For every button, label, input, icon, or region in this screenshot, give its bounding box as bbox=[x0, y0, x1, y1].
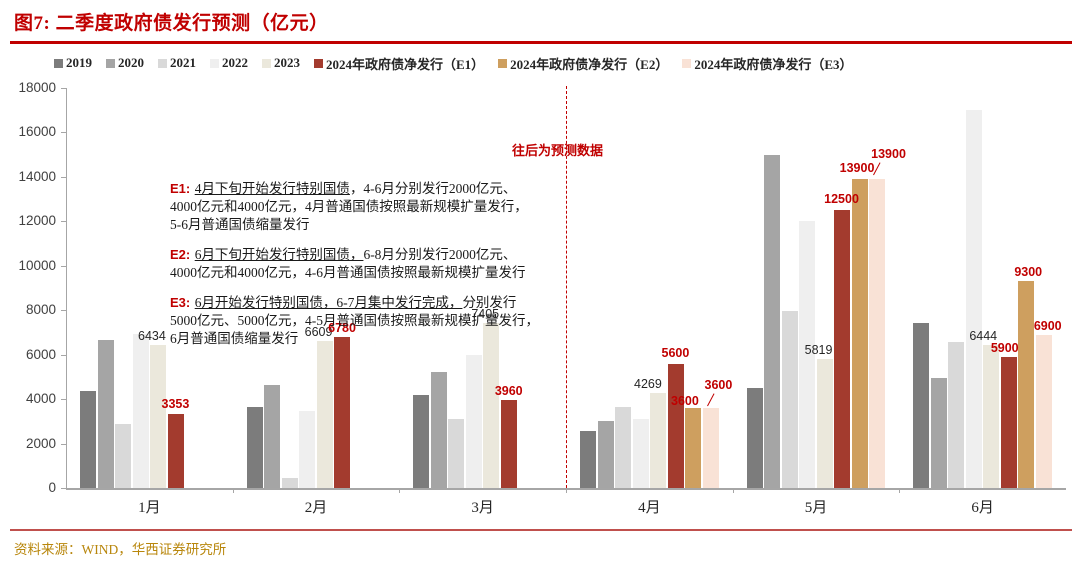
bar-6月-2021 bbox=[948, 342, 964, 488]
bar-value-label: 5600 bbox=[662, 346, 690, 360]
bar-4月-2024年政府债净发行（E2） bbox=[685, 408, 701, 488]
x-tick-label-3: 3月 bbox=[423, 496, 543, 517]
annotation-line1-rest: 6-8月分别发行2000亿元、 bbox=[363, 247, 516, 262]
bar-1月-2019 bbox=[80, 391, 96, 488]
annotation-line3: 5-6月普通国债缩量发行 bbox=[170, 216, 640, 234]
bar-5月-2024年政府债净发行（E2） bbox=[852, 179, 868, 488]
bar-3月-2020 bbox=[431, 372, 447, 488]
bar-value-label: 13900 bbox=[840, 161, 875, 175]
annotation-line2: 4000亿元和4000亿元，4月普通国债按照最新规模扩量发行， bbox=[170, 198, 640, 216]
bar-value-label: 13900 bbox=[871, 147, 906, 161]
y-tick-mark bbox=[61, 488, 66, 489]
bar-1月-2021 bbox=[115, 424, 131, 488]
annotation-underlined-text: 6月下旬开始发行特别国债， bbox=[195, 247, 364, 262]
y-tick-label: 18000 bbox=[0, 80, 56, 95]
x-tick-label-5: 5月 bbox=[756, 496, 876, 517]
legend-item-2: 2020 bbox=[106, 55, 144, 71]
y-tick-label: 6000 bbox=[0, 347, 56, 362]
bar-5月-2020 bbox=[764, 155, 780, 488]
bar-value-label: 4269 bbox=[634, 377, 662, 391]
x-tick-mark bbox=[899, 488, 900, 493]
legend-label: 2020 bbox=[118, 55, 144, 71]
bar-4月-2021 bbox=[615, 407, 631, 488]
legend-label: 2024年政府债净发行（E2） bbox=[510, 54, 668, 73]
bar-6月-2022 bbox=[966, 110, 982, 488]
bar-4月-2023 bbox=[650, 393, 666, 488]
bar-6月-2023 bbox=[983, 345, 999, 488]
annotation-line2: 5000亿元、5000亿元，4-5月普通国债按照最新规模扩量发行， bbox=[170, 312, 640, 330]
legend-label: 2022 bbox=[222, 55, 248, 71]
label-leader-line bbox=[707, 393, 714, 406]
legend-item-6: 2024年政府债净发行（E1） bbox=[314, 54, 484, 73]
legend-swatch-icon bbox=[682, 59, 691, 68]
annotation-tag: E2: bbox=[170, 247, 190, 262]
bar-value-label: 5900 bbox=[991, 341, 1019, 355]
bar-5月-2019 bbox=[747, 388, 763, 488]
bar-value-label: 5819 bbox=[805, 343, 833, 357]
bar-4月-2024年政府债净发行（E3） bbox=[703, 408, 719, 488]
bar-6月-2024年政府债净发行（E3） bbox=[1036, 335, 1052, 488]
annotation-line3: 6月普通国债缩量发行 bbox=[170, 330, 640, 348]
y-tick-label: 0 bbox=[0, 480, 56, 495]
legend-label: 2024年政府债净发行（E3） bbox=[694, 54, 852, 73]
bar-value-label: 9300 bbox=[1014, 265, 1042, 279]
legend-swatch-icon bbox=[210, 59, 219, 68]
bar-6月-2024年政府债净发行（E2） bbox=[1018, 281, 1034, 488]
page-title: 图7: 二季度政府债发行预测（亿元） bbox=[14, 8, 329, 35]
x-tick-mark bbox=[733, 488, 734, 493]
legend-item-8: 2024年政府债净发行（E3） bbox=[682, 54, 852, 73]
bar-3月-2021 bbox=[448, 419, 464, 488]
legend-item-1: 2019 bbox=[54, 55, 92, 71]
bar-2月-2022 bbox=[299, 411, 315, 488]
source-note: 资料来源：WIND，华西证券研究所 bbox=[14, 538, 226, 558]
bar-6月-2024年政府债净发行（E1） bbox=[1001, 357, 1017, 488]
title-divider bbox=[10, 41, 1072, 44]
bar-2月-2019 bbox=[247, 407, 263, 488]
annotation-line1-rest: 分别发行 bbox=[462, 295, 516, 310]
annotation-line2: 4000亿元和4000亿元，4-6月普通国债按照最新规模扩量发行 bbox=[170, 264, 640, 282]
y-tick-label: 8000 bbox=[0, 302, 56, 317]
bar-1月-2020 bbox=[98, 340, 114, 488]
bar-value-label: 3353 bbox=[162, 397, 190, 411]
bar-3月-2024年政府债净发行（E1） bbox=[501, 400, 517, 488]
annotation-e3: E3: 6月开始发行特别国债，6-7月集中发行完成，分别发行5000亿元、500… bbox=[170, 294, 640, 348]
x-tick-mark bbox=[399, 488, 400, 493]
bar-1月-2023 bbox=[150, 345, 166, 488]
bar-value-label: 3600 bbox=[705, 378, 733, 392]
y-axis bbox=[66, 88, 67, 488]
chart-legend: 201920202021202220232024年政府债净发行（E1）2024年… bbox=[54, 54, 1070, 72]
bar-2月-2021 bbox=[282, 478, 298, 488]
bar-6月-2019 bbox=[913, 323, 929, 488]
annotation-block: E1: 4月下旬开始发行特别国债，4-6月分别发行2000亿元、4000亿元和4… bbox=[170, 180, 640, 360]
annotation-line1-rest: ，4-6月分别发行2000亿元、 bbox=[350, 181, 517, 196]
x-tick-label-6: 6月 bbox=[923, 496, 1043, 517]
legend-swatch-icon bbox=[498, 59, 507, 68]
y-tick-mark bbox=[61, 221, 66, 222]
chart-plot-area: 0200040006000800010000120001400016000180… bbox=[66, 88, 1066, 488]
legend-label: 2021 bbox=[170, 55, 196, 71]
figure-header: 图7: 二季度政府债发行预测（亿元） bbox=[0, 0, 1080, 46]
legend-swatch-icon bbox=[54, 59, 63, 68]
x-tick-label-4: 4月 bbox=[589, 496, 709, 517]
y-tick-label: 10000 bbox=[0, 258, 56, 273]
bar-4月-2020 bbox=[598, 421, 614, 488]
y-tick-mark bbox=[61, 399, 66, 400]
bar-value-label: 6434 bbox=[138, 329, 166, 343]
bar-1月-2022 bbox=[133, 334, 149, 488]
bar-6月-2020 bbox=[931, 378, 947, 488]
y-tick-mark bbox=[61, 444, 66, 445]
bar-4月-2019 bbox=[580, 431, 596, 488]
y-tick-label: 12000 bbox=[0, 213, 56, 228]
y-tick-label: 16000 bbox=[0, 124, 56, 139]
x-tick-mark bbox=[566, 488, 567, 493]
y-tick-label: 2000 bbox=[0, 436, 56, 451]
y-tick-mark bbox=[61, 177, 66, 178]
bar-5月-2024年政府债净发行（E1） bbox=[834, 210, 850, 488]
annotation-e1: E1: 4月下旬开始发行特别国债，4-6月分别发行2000亿元、4000亿元和4… bbox=[170, 180, 640, 234]
annotation-underlined-text: 4月下旬开始发行特别国债 bbox=[195, 181, 350, 196]
bar-3月-2022 bbox=[466, 355, 482, 488]
bar-value-label: 3600 bbox=[671, 394, 699, 408]
y-tick-mark bbox=[61, 132, 66, 133]
legend-item-3: 2021 bbox=[158, 55, 196, 71]
legend-item-4: 2022 bbox=[210, 55, 248, 71]
bar-2月-2020 bbox=[264, 385, 280, 488]
legend-label: 2024年政府债净发行（E1） bbox=[326, 54, 484, 73]
legend-label: 2023 bbox=[274, 55, 300, 71]
legend-swatch-icon bbox=[106, 59, 115, 68]
bar-5月-2023 bbox=[817, 359, 833, 488]
legend-swatch-icon bbox=[314, 59, 323, 68]
y-tick-mark bbox=[61, 310, 66, 311]
bar-5月-2021 bbox=[782, 311, 798, 488]
footer-divider bbox=[10, 529, 1072, 531]
bar-3月-2019 bbox=[413, 395, 429, 488]
legend-swatch-icon bbox=[158, 59, 167, 68]
bar-1月-2024年政府债净发行（E1） bbox=[168, 414, 184, 489]
x-tick-label-2: 2月 bbox=[256, 496, 376, 517]
bar-4月-2022 bbox=[633, 419, 649, 488]
bar-value-label: 6900 bbox=[1034, 319, 1062, 333]
legend-label: 2019 bbox=[66, 55, 92, 71]
annotation-underlined-text: 6月开始发行特别国债，6-7月集中发行完成， bbox=[195, 295, 463, 310]
x-tick-mark bbox=[233, 488, 234, 493]
y-tick-label: 14000 bbox=[0, 169, 56, 184]
annotation-tag: E1: bbox=[170, 181, 190, 196]
y-tick-mark bbox=[61, 266, 66, 267]
bar-value-label: 3960 bbox=[495, 384, 523, 398]
bar-2月-2023 bbox=[317, 341, 333, 488]
y-tick-label: 4000 bbox=[0, 391, 56, 406]
bar-value-label: 12500 bbox=[824, 192, 859, 206]
annotation-tag: E3: bbox=[170, 295, 190, 310]
legend-item-7: 2024年政府债净发行（E2） bbox=[498, 54, 668, 73]
y-tick-mark bbox=[61, 88, 66, 89]
bar-5月-2024年政府债净发行（E3） bbox=[869, 179, 885, 488]
annotation-e2: E2: 6月下旬开始发行特别国债，6-8月分别发行2000亿元、4000亿元和4… bbox=[170, 246, 640, 282]
legend-swatch-icon bbox=[262, 59, 271, 68]
bar-4月-2024年政府债净发行（E1） bbox=[668, 364, 684, 488]
y-tick-mark bbox=[61, 355, 66, 356]
forecast-divider-note: 往后为预测数据 bbox=[512, 140, 603, 159]
legend-item-5: 2023 bbox=[262, 55, 300, 71]
x-tick-label-1: 1月 bbox=[89, 496, 209, 517]
